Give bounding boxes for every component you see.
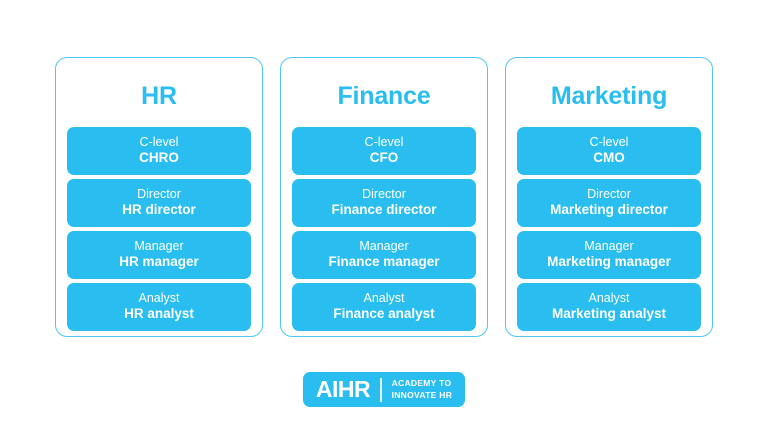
role-title-label: Marketing director — [550, 202, 668, 219]
role-pill: Analyst Marketing analyst — [517, 283, 701, 331]
department-columns: HR C-level CHRO Director HR director Man… — [55, 57, 713, 337]
role-title-label: HR director — [122, 202, 196, 219]
logo-tagline-line-1: Academy to — [392, 378, 452, 388]
role-pill: Manager Finance manager — [292, 231, 476, 279]
role-title-label: Finance manager — [328, 254, 439, 271]
department-title-marketing: Marketing — [517, 68, 701, 127]
department-card-finance: Finance C-level CFO Director Finance dir… — [280, 57, 488, 337]
role-pill-stack-finance: C-level CFO Director Finance director Ma… — [292, 127, 476, 331]
role-level-label: Analyst — [589, 291, 630, 307]
role-pill-stack-marketing: C-level CMO Director Marketing director … — [517, 127, 701, 331]
role-level-label: C-level — [140, 135, 179, 151]
logo-wordmark: AIHR — [316, 378, 380, 401]
role-title-label: Marketing manager — [547, 254, 671, 271]
role-level-label: Analyst — [364, 291, 405, 307]
role-pill: Director Finance director — [292, 179, 476, 227]
role-pill: C-level CMO — [517, 127, 701, 175]
role-pill-stack-hr: C-level CHRO Director HR director Manage… — [67, 127, 251, 331]
diagram-canvas: HR C-level CHRO Director HR director Man… — [0, 0, 768, 437]
role-pill: C-level CHRO — [67, 127, 251, 175]
role-level-label: C-level — [365, 135, 404, 151]
logo-tagline: Academy to Innovate HR — [382, 378, 453, 401]
role-title-label: Finance analyst — [333, 306, 434, 323]
department-title-finance: Finance — [292, 68, 476, 127]
role-pill: Director HR director — [67, 179, 251, 227]
role-title-label: CFO — [370, 150, 399, 167]
role-level-label: Director — [587, 187, 631, 203]
role-pill: C-level CFO — [292, 127, 476, 175]
role-level-label: Manager — [584, 239, 633, 255]
role-title-label: CMO — [593, 150, 625, 167]
department-card-marketing: Marketing C-level CMO Director Marketing… — [505, 57, 713, 337]
role-level-label: Manager — [359, 239, 408, 255]
role-level-label: C-level — [590, 135, 629, 151]
department-title-hr: HR — [67, 68, 251, 127]
role-level-label: Director — [362, 187, 406, 203]
role-pill: Director Marketing director — [517, 179, 701, 227]
role-title-label: Finance director — [331, 202, 436, 219]
role-title-label: HR analyst — [124, 306, 194, 323]
role-level-label: Analyst — [139, 291, 180, 307]
role-level-label: Director — [137, 187, 181, 203]
role-pill: Analyst Finance analyst — [292, 283, 476, 331]
role-level-label: Manager — [134, 239, 183, 255]
brand-logo-area: AIHR Academy to Innovate HR — [0, 372, 768, 407]
role-pill: Manager Marketing manager — [517, 231, 701, 279]
aihr-logo: AIHR Academy to Innovate HR — [303, 372, 465, 407]
logo-tagline-line-2: Innovate HR — [392, 390, 453, 400]
role-title-label: HR manager — [119, 254, 199, 271]
department-card-hr: HR C-level CHRO Director HR director Man… — [55, 57, 263, 337]
role-title-label: Marketing analyst — [552, 306, 666, 323]
role-title-label: CHRO — [139, 150, 179, 167]
logo-divider — [380, 378, 382, 402]
role-pill: Manager HR manager — [67, 231, 251, 279]
role-pill: Analyst HR analyst — [67, 283, 251, 331]
